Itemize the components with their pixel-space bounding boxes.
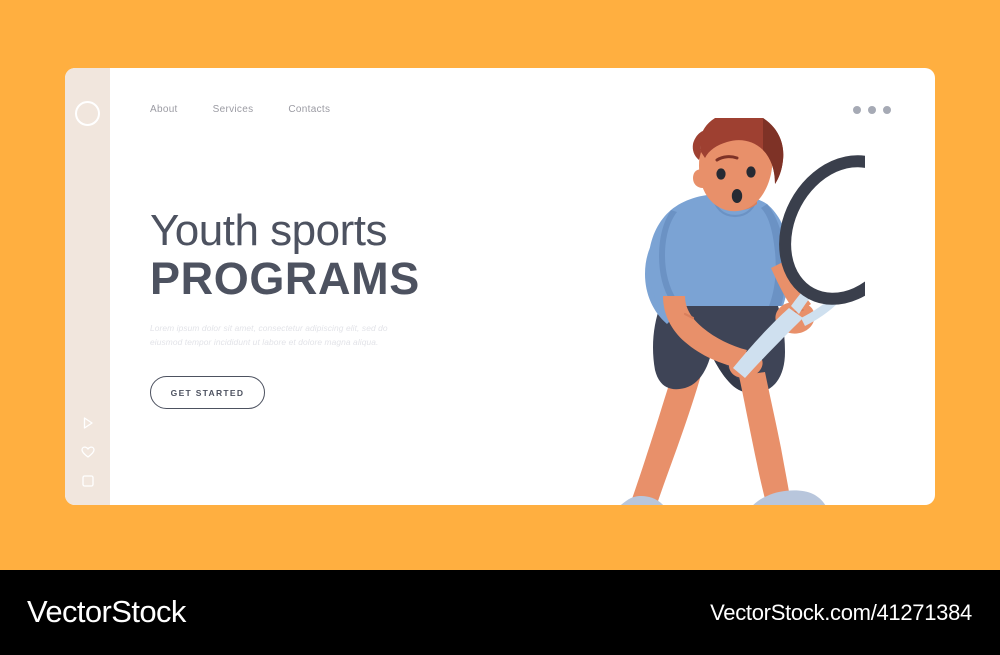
nav-link-about[interactable]: About [150, 104, 178, 115]
nav-link-contacts[interactable]: Contacts [288, 104, 330, 115]
circle-logo[interactable] [75, 101, 100, 126]
window-control-dots [853, 106, 891, 114]
landing-page-card: About Services Contacts Youth sports PRO… [65, 68, 935, 505]
dot-2[interactable] [868, 106, 876, 114]
back-shoe [597, 496, 672, 505]
dot-3[interactable] [883, 106, 891, 114]
vectorstock-url: VectorStock.com/41271384 [710, 600, 972, 626]
vectorstock-logo: VectorStock [27, 594, 186, 630]
nav-link-services[interactable]: Services [213, 104, 254, 115]
left-rail [65, 68, 110, 505]
front-leg [739, 372, 791, 505]
footer-bar: VectorStock VectorStock.com/41271384 [0, 570, 1000, 655]
hero-subtitle: Lorem ipsum dolor sit amet, consectetur … [150, 322, 408, 349]
eye-right [746, 166, 755, 177]
ear [693, 169, 703, 188]
dot-1[interactable] [853, 106, 861, 114]
mouth [732, 189, 742, 203]
page-title-line2: PROGRAMS [150, 255, 480, 304]
eye-left [716, 168, 725, 179]
heart-icon[interactable] [81, 445, 95, 459]
front-shoe [742, 490, 829, 505]
boy-playing-tennis-illustration [535, 118, 865, 505]
play-icon[interactable] [81, 416, 95, 430]
rail-icon-group [65, 416, 110, 488]
screenshot-root: About Services Contacts Youth sports PRO… [0, 0, 1000, 655]
square-icon[interactable] [81, 474, 95, 488]
get-started-button[interactable]: GET STARTED [150, 376, 265, 409]
page-title-line1: Youth sports [150, 208, 480, 255]
hero-section: Youth sports PROGRAMS Lorem ipsum dolor … [150, 208, 480, 409]
top-navigation: About Services Contacts [150, 104, 330, 115]
